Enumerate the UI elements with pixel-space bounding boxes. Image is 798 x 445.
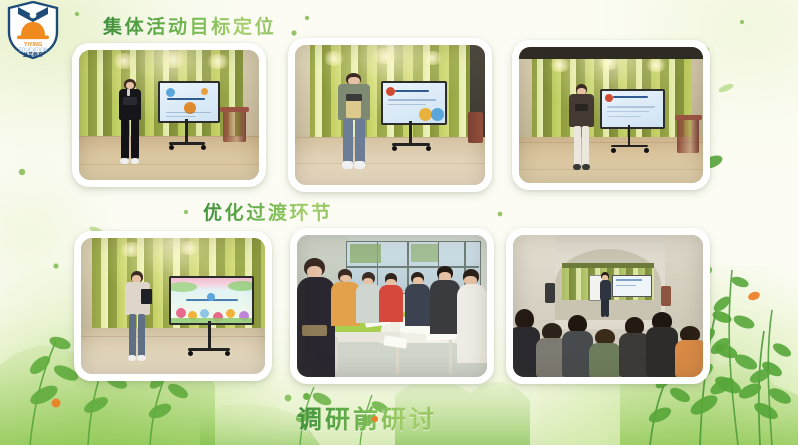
photo-group-discussion[interactable] xyxy=(290,228,494,384)
photo-presenter-dark-coat[interactable] xyxy=(512,40,710,190)
photo-presenter-black-suit[interactable] xyxy=(72,43,266,187)
section-heading-group-activity-goals: 集体活动目标定位 xyxy=(103,12,276,39)
section-heading-pre-research-discussion: 调研前研讨 xyxy=(297,400,437,436)
photo-presenter-reading-folder[interactable] xyxy=(74,231,272,381)
logo-chinese-name: 益英教育 xyxy=(23,52,43,59)
section-heading-optimise-transition: 优化过渡环节 xyxy=(203,198,333,225)
photo-presenter-green-jacket[interactable] xyxy=(288,38,492,192)
photo-audience-watching-presentation[interactable] xyxy=(506,228,710,384)
heading-green-accent-dot xyxy=(303,393,310,400)
heading-orange-accent-dot xyxy=(372,416,378,422)
slide-canvas: YIYING EDUCATION 益英教育 集体活动目标定位 优化过渡环节 调研… xyxy=(0,0,798,445)
yiying-education-shield-logo: YIYING EDUCATION 益英教育 xyxy=(6,1,60,59)
